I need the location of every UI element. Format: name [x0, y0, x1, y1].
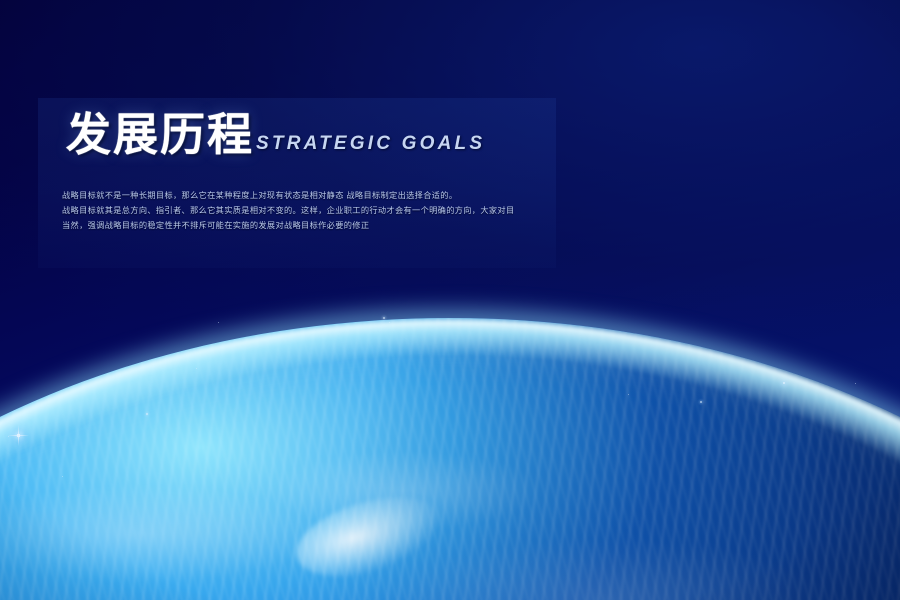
- page-subtitle: STRATEGIC GOALS: [256, 133, 485, 158]
- body-line: 当然，强调战略目标的稳定性并不排斥可能在实施的发展对战略目标作必要的修正: [62, 218, 622, 233]
- banner-heading: 发展历程 STRATEGIC GOALS: [66, 113, 485, 158]
- banner-scene: 发展历程 STRATEGIC GOALS 战略目标就不是一种长期目标，那么它在某…: [0, 0, 900, 600]
- star-mid: [218, 322, 219, 323]
- body-line: 战略目标就不是一种长期目标，那么它在某种程度上对现有状态是相对静态 战略目标制定…: [62, 188, 622, 203]
- page-title: 发展历程: [66, 113, 254, 158]
- banner-body-copy: 战略目标就不是一种长期目标，那么它在某种程度上对现有状态是相对静态 战略目标制定…: [62, 188, 622, 233]
- body-line: 战略目标就其是总方向、指引者、那么它其实质是相对不变的。这样，企业职工的行动才会…: [62, 203, 622, 218]
